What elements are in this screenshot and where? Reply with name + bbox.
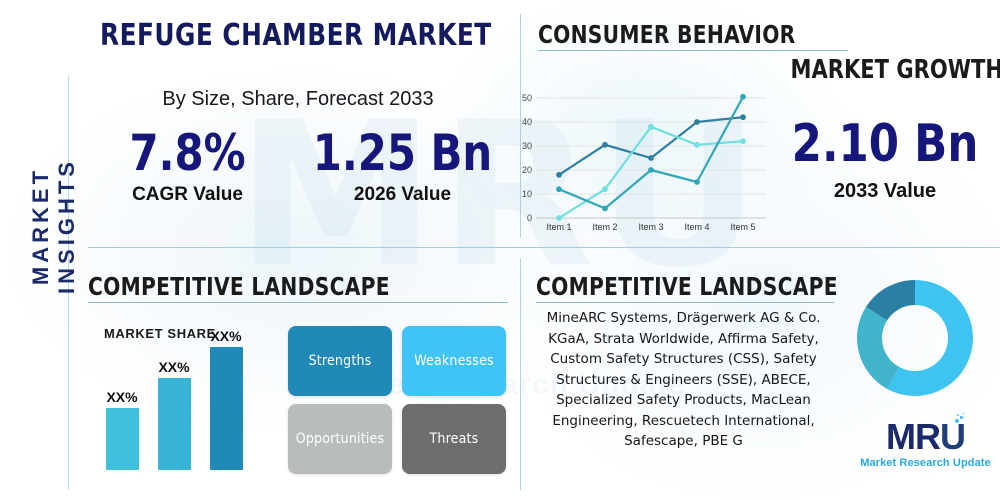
kpi-2026-value: 1.25 Bn: [303, 124, 503, 182]
donut-chart-svg: [845, 268, 985, 408]
divider-mid-vertical-top: [520, 14, 521, 238]
data-point: [740, 94, 746, 100]
header-competitive-landscape-left: COMPETITIVE LANDSCAPE: [88, 272, 390, 301]
bar-value-label: XX%: [210, 328, 241, 344]
data-point: [556, 186, 562, 192]
swot-box-weaknesses[interactable]: Weaknesses: [402, 326, 506, 396]
logo-wordmark: MRU: [886, 418, 965, 456]
data-point: [602, 186, 608, 192]
infographic-canvas: MRU Market Research Update MARKET INSIGH…: [0, 0, 1000, 500]
divider-horizontal: [88, 247, 1000, 248]
brand-logo: MRU Market Research Update: [858, 418, 993, 469]
y-axis-tick-label: 40: [522, 117, 532, 127]
header-competitive-landscape-right: COMPETITIVE LANDSCAPE: [536, 272, 838, 301]
line-series: [559, 97, 743, 209]
bubbles-icon: [953, 411, 967, 425]
data-point: [602, 206, 608, 212]
swot-box-strengths[interactable]: Strengths: [288, 326, 392, 396]
company-list: MineARC Systems, Drägerwerk AG & Co. KGa…: [536, 308, 831, 452]
kpi-2026-label: 2026 Value: [295, 184, 510, 206]
x-axis-tick-label: Item 3: [638, 222, 663, 232]
y-axis-tick-label: 20: [522, 165, 532, 175]
x-axis-tick-label: Item 4: [684, 222, 709, 232]
data-point: [740, 114, 746, 120]
y-axis-tick-label: 0: [527, 213, 532, 223]
data-point: [648, 155, 654, 161]
y-axis-tick-label: 10: [522, 189, 532, 199]
market-growth-label: 2033 Value: [780, 180, 990, 203]
line-chart-svg: [536, 98, 766, 218]
side-label-market-insights: MARKET INSIGHTS: [28, 96, 80, 356]
header-competitive-landscape-left-underline: [88, 302, 508, 303]
bar-value-label: XX%: [106, 389, 137, 405]
bar: [106, 408, 139, 470]
data-point: [694, 119, 700, 125]
data-point: [740, 138, 746, 144]
kpi-2026: 1.25 Bn 2026 Value: [295, 124, 510, 206]
y-axis-tick-label: 50: [522, 93, 532, 103]
swot-grid: StrengthsWeaknessesOpportunitiesThreats: [288, 326, 506, 474]
data-point: [648, 167, 654, 173]
data-point: [648, 124, 654, 130]
page-subtitle: By Size, Share, Forecast 2033: [88, 88, 508, 111]
header-competitive-landscape-right-underline: [536, 302, 834, 303]
x-axis-tick-label: Item 5: [730, 222, 755, 232]
market-share-bar-chart: XX%XX%XX%: [100, 330, 265, 470]
divider-mid-vertical-bottom: [520, 258, 521, 490]
market-growth-title: MARKET GROWTH: [791, 55, 980, 85]
swot-box-opportunities[interactable]: Opportunities: [288, 404, 392, 474]
kpi-cagr: 7.8% CAGR Value: [80, 124, 295, 206]
data-point: [694, 179, 700, 185]
x-axis-tick-label: Item 2: [592, 222, 617, 232]
logo-tagline: Market Research Update: [858, 457, 993, 469]
kpi-cagr-value: 7.8%: [88, 124, 288, 182]
kpi-cagr-label: CAGR Value: [80, 184, 295, 206]
data-point: [602, 142, 608, 148]
market-segment-donut-chart: [845, 268, 985, 408]
page-title: REFUGE CHAMBER MARKET: [100, 18, 468, 53]
consumer-behavior-line-chart: 01020304050Item 1Item 2Item 3Item 4Item …: [536, 98, 766, 218]
donut-segment: [857, 307, 899, 389]
bar: [210, 347, 243, 470]
data-point: [556, 215, 562, 221]
swot-box-threats[interactable]: Threats: [402, 404, 506, 474]
market-growth-value: 2.10 Bn: [787, 115, 982, 173]
logo-mark-mr: MR: [886, 416, 940, 457]
data-point: [556, 172, 562, 178]
data-point: [694, 142, 700, 148]
x-axis-tick-label: Item 1: [546, 222, 571, 232]
kpi-group: 7.8% CAGR Value 1.25 Bn 2026 Value: [80, 124, 510, 206]
y-axis-tick-label: 30: [522, 141, 532, 151]
header-consumer-behavior: CONSUMER BEHAVIOR: [538, 20, 796, 49]
bar: [158, 378, 191, 470]
bar-value-label: XX%: [158, 359, 189, 375]
header-consumer-behavior-underline: [538, 50, 848, 51]
